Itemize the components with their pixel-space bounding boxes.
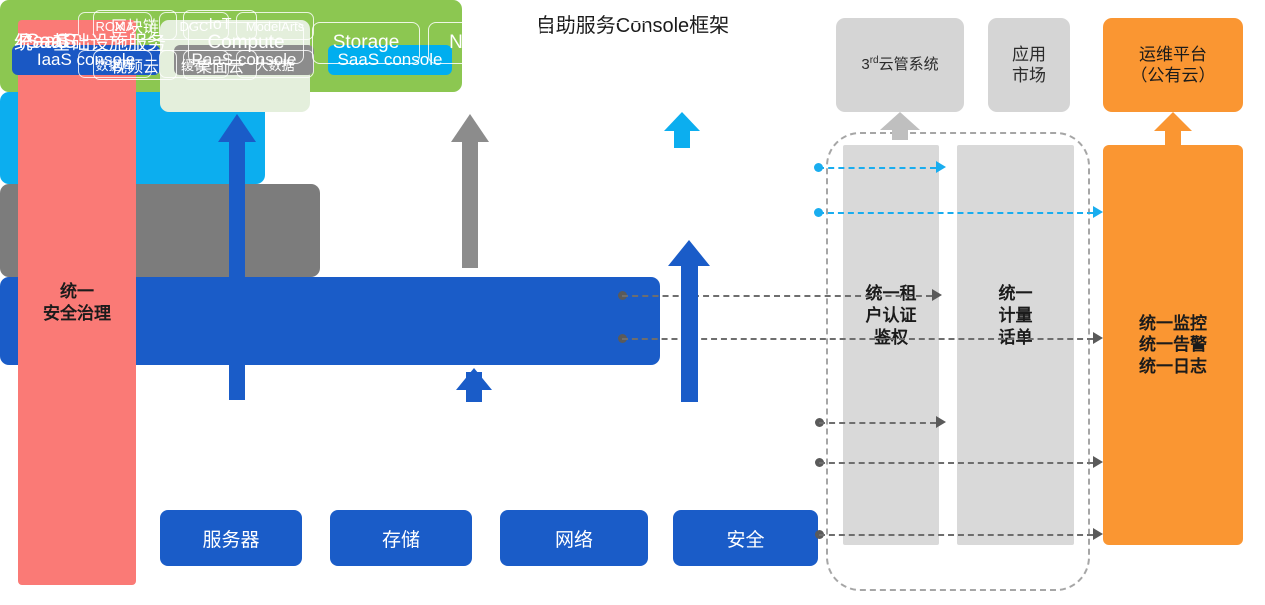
- hardware-box-server[interactable]: 服务器: [160, 510, 302, 566]
- unified-security-governance-panel: 统一 安全治理: [18, 20, 136, 585]
- third-party-cloud-mgmt-box: 3rd云管系统: [836, 18, 964, 112]
- hardware-box-network[interactable]: 网络: [500, 510, 648, 566]
- infra-chip-network[interactable]: Network: [428, 22, 540, 64]
- cyan-arrowhead-1: [936, 161, 946, 173]
- ops-monitoring-panel: 统一监控 统一告警 统一日志: [1103, 145, 1243, 545]
- app-market-box: 应用 市场: [988, 18, 1070, 112]
- hardware-box-storage[interactable]: 存储: [330, 510, 472, 566]
- dash-arrowhead-infra-1: [936, 416, 946, 428]
- cyan-connector-saas-to-ops: [818, 212, 1093, 214]
- arrow-infra-to-paas: [456, 368, 492, 402]
- dash-connector-paas-to-tenant-auth: [622, 295, 932, 297]
- hardware-box-security[interactable]: 安全: [673, 510, 818, 566]
- dash-arrowhead-hardware: [1093, 528, 1103, 540]
- ops-platform-box: 运维平台 （公有云）: [1103, 18, 1243, 112]
- ops-monitoring-label: 统一监控 统一告警 统一日志: [1139, 313, 1207, 377]
- governance-label: 统一 安全治理: [43, 281, 111, 324]
- infra-chip-cce[interactable]: CCE: [548, 22, 650, 64]
- unified-infrastructure-label: 统一基础设施服务: [14, 28, 166, 55]
- third-party-label: 3rd云管系统: [861, 55, 938, 75]
- app-market-label: 应用 市场: [1012, 44, 1046, 87]
- infra-chip-storage[interactable]: Storage: [312, 22, 420, 64]
- arrow-saas-to-saas-console: [664, 112, 700, 148]
- ops-platform-label: 运维平台 （公有云）: [1131, 44, 1216, 87]
- infra-chip-compute[interactable]: Compute: [188, 22, 304, 64]
- arrow-overlay-infra-to-saas: [681, 262, 698, 402]
- architecture-diagram: 统一 安全治理 API网关 自助服务Console框架 IaaS console…: [0, 0, 1265, 605]
- dash-arrowhead-paas-2: [1093, 332, 1103, 344]
- dash-connector-hardware-to-ops: [819, 534, 1093, 536]
- dash-arrowhead-paas-1: [932, 289, 942, 301]
- arrow-ops-body-to-ops-top: [1154, 112, 1192, 146]
- dash-connector-paas-to-ops: [622, 338, 1093, 340]
- cyan-arrowhead-2: [1093, 206, 1103, 218]
- dash-arrowhead-infra-2: [1093, 456, 1103, 468]
- arrow-paas-to-console: [451, 114, 489, 268]
- dash-connector-infra-to-tenant-auth: [819, 422, 936, 424]
- dash-connector-infra-to-ops: [819, 462, 1093, 464]
- cyan-connector-saas-to-tenant-auth: [818, 167, 936, 169]
- arrow-infra-to-saas: [668, 240, 710, 402]
